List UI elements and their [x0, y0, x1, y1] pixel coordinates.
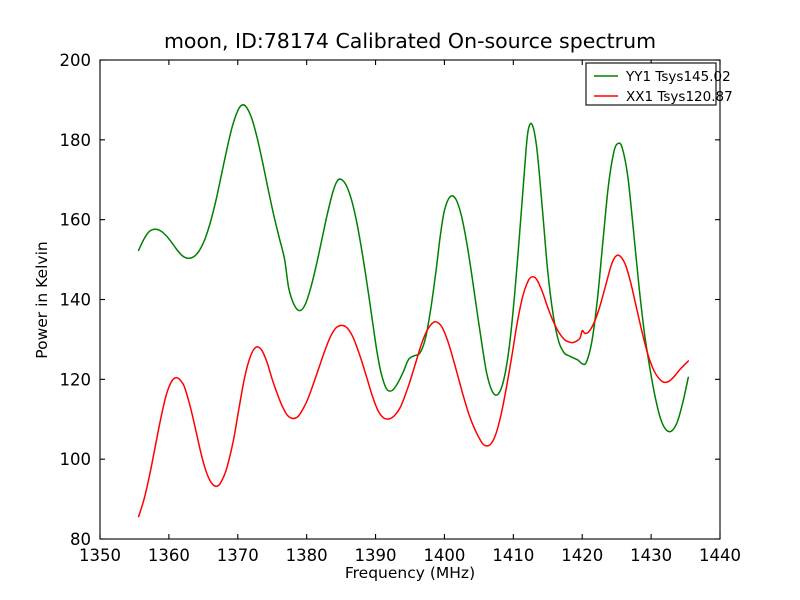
x-tick-label: 1400: [423, 546, 465, 565]
x-tick-label: 1410: [492, 546, 534, 565]
spectrum-plot: moon, ID:78174 Calibrated On-source spec…: [0, 0, 800, 600]
y-axis-title: Power in Kelvin: [33, 241, 51, 358]
x-tick-label: 1370: [217, 546, 259, 565]
figure-canvas: moon, ID:78174 Calibrated On-source spec…: [0, 0, 800, 600]
x-axis-title: Frequency (MHz): [345, 564, 475, 582]
page-title: moon, ID:78174 Calibrated On-source spec…: [164, 29, 656, 53]
x-tick-label: 1420: [561, 546, 603, 565]
legend[interactable]: YY1 Tsys145.02XX1 Tsys120.87: [586, 63, 733, 105]
y-tick-label: 80: [70, 530, 91, 549]
y-tick-label: 200: [60, 51, 92, 70]
x-tick-label: 1390: [355, 546, 397, 565]
x-tick-label: 1440: [699, 546, 741, 565]
y-tick-label: 100: [60, 450, 92, 469]
legend-label-1: XX1 Tsys120.87: [626, 89, 733, 105]
x-tick-label: 1360: [148, 546, 190, 565]
x-tick-label: 1430: [630, 546, 672, 565]
y-tick-label: 180: [60, 131, 92, 150]
y-tick-label: 120: [60, 370, 92, 389]
x-tick-label: 1380: [286, 546, 328, 565]
y-tick-label: 160: [60, 211, 92, 230]
legend-label-0: YY1 Tsys145.02: [625, 69, 731, 85]
y-tick-label: 140: [60, 291, 92, 310]
